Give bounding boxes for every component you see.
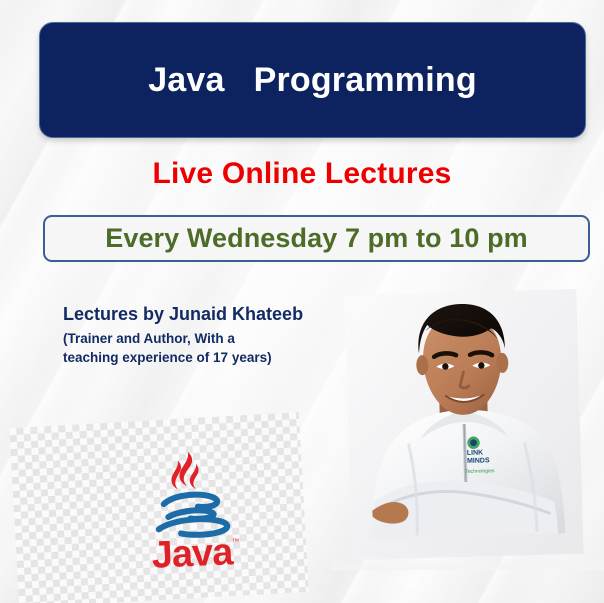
title-banner: Java Programming <box>39 22 586 138</box>
presenter-credentials-line-2: teaching experience of 17 years) <box>63 348 363 368</box>
svg-text:LINK: LINK <box>467 449 484 456</box>
svg-text:MINDS: MINDS <box>467 457 490 465</box>
svg-text:Technologies: Technologies <box>465 468 495 475</box>
poster-canvas: Java Programming Live Online Lectures Ev… <box>0 0 604 603</box>
svg-text:™: ™ <box>231 537 239 546</box>
presenter-name: Lectures by Junaid Khateeb <box>63 303 363 326</box>
schedule-box: Every Wednesday 7 pm to 10 pm <box>43 215 590 262</box>
java-coffee-cup-logo: Java ™ <box>131 444 248 575</box>
presenter-photo: LINK MINDS Technologies <box>344 289 583 560</box>
schedule-text: Every Wednesday 7 pm to 10 pm <box>105 223 528 254</box>
presenter-info-block: Lectures by Junaid Khateeb (Trainer and … <box>63 303 363 368</box>
headline-live-online-lectures: Live Online Lectures <box>0 157 604 191</box>
svg-text:Java: Java <box>151 531 235 574</box>
page-title: Java Programming <box>148 61 477 100</box>
presenter-credentials-line-1: (Trainer and Author, With a <box>63 329 363 349</box>
